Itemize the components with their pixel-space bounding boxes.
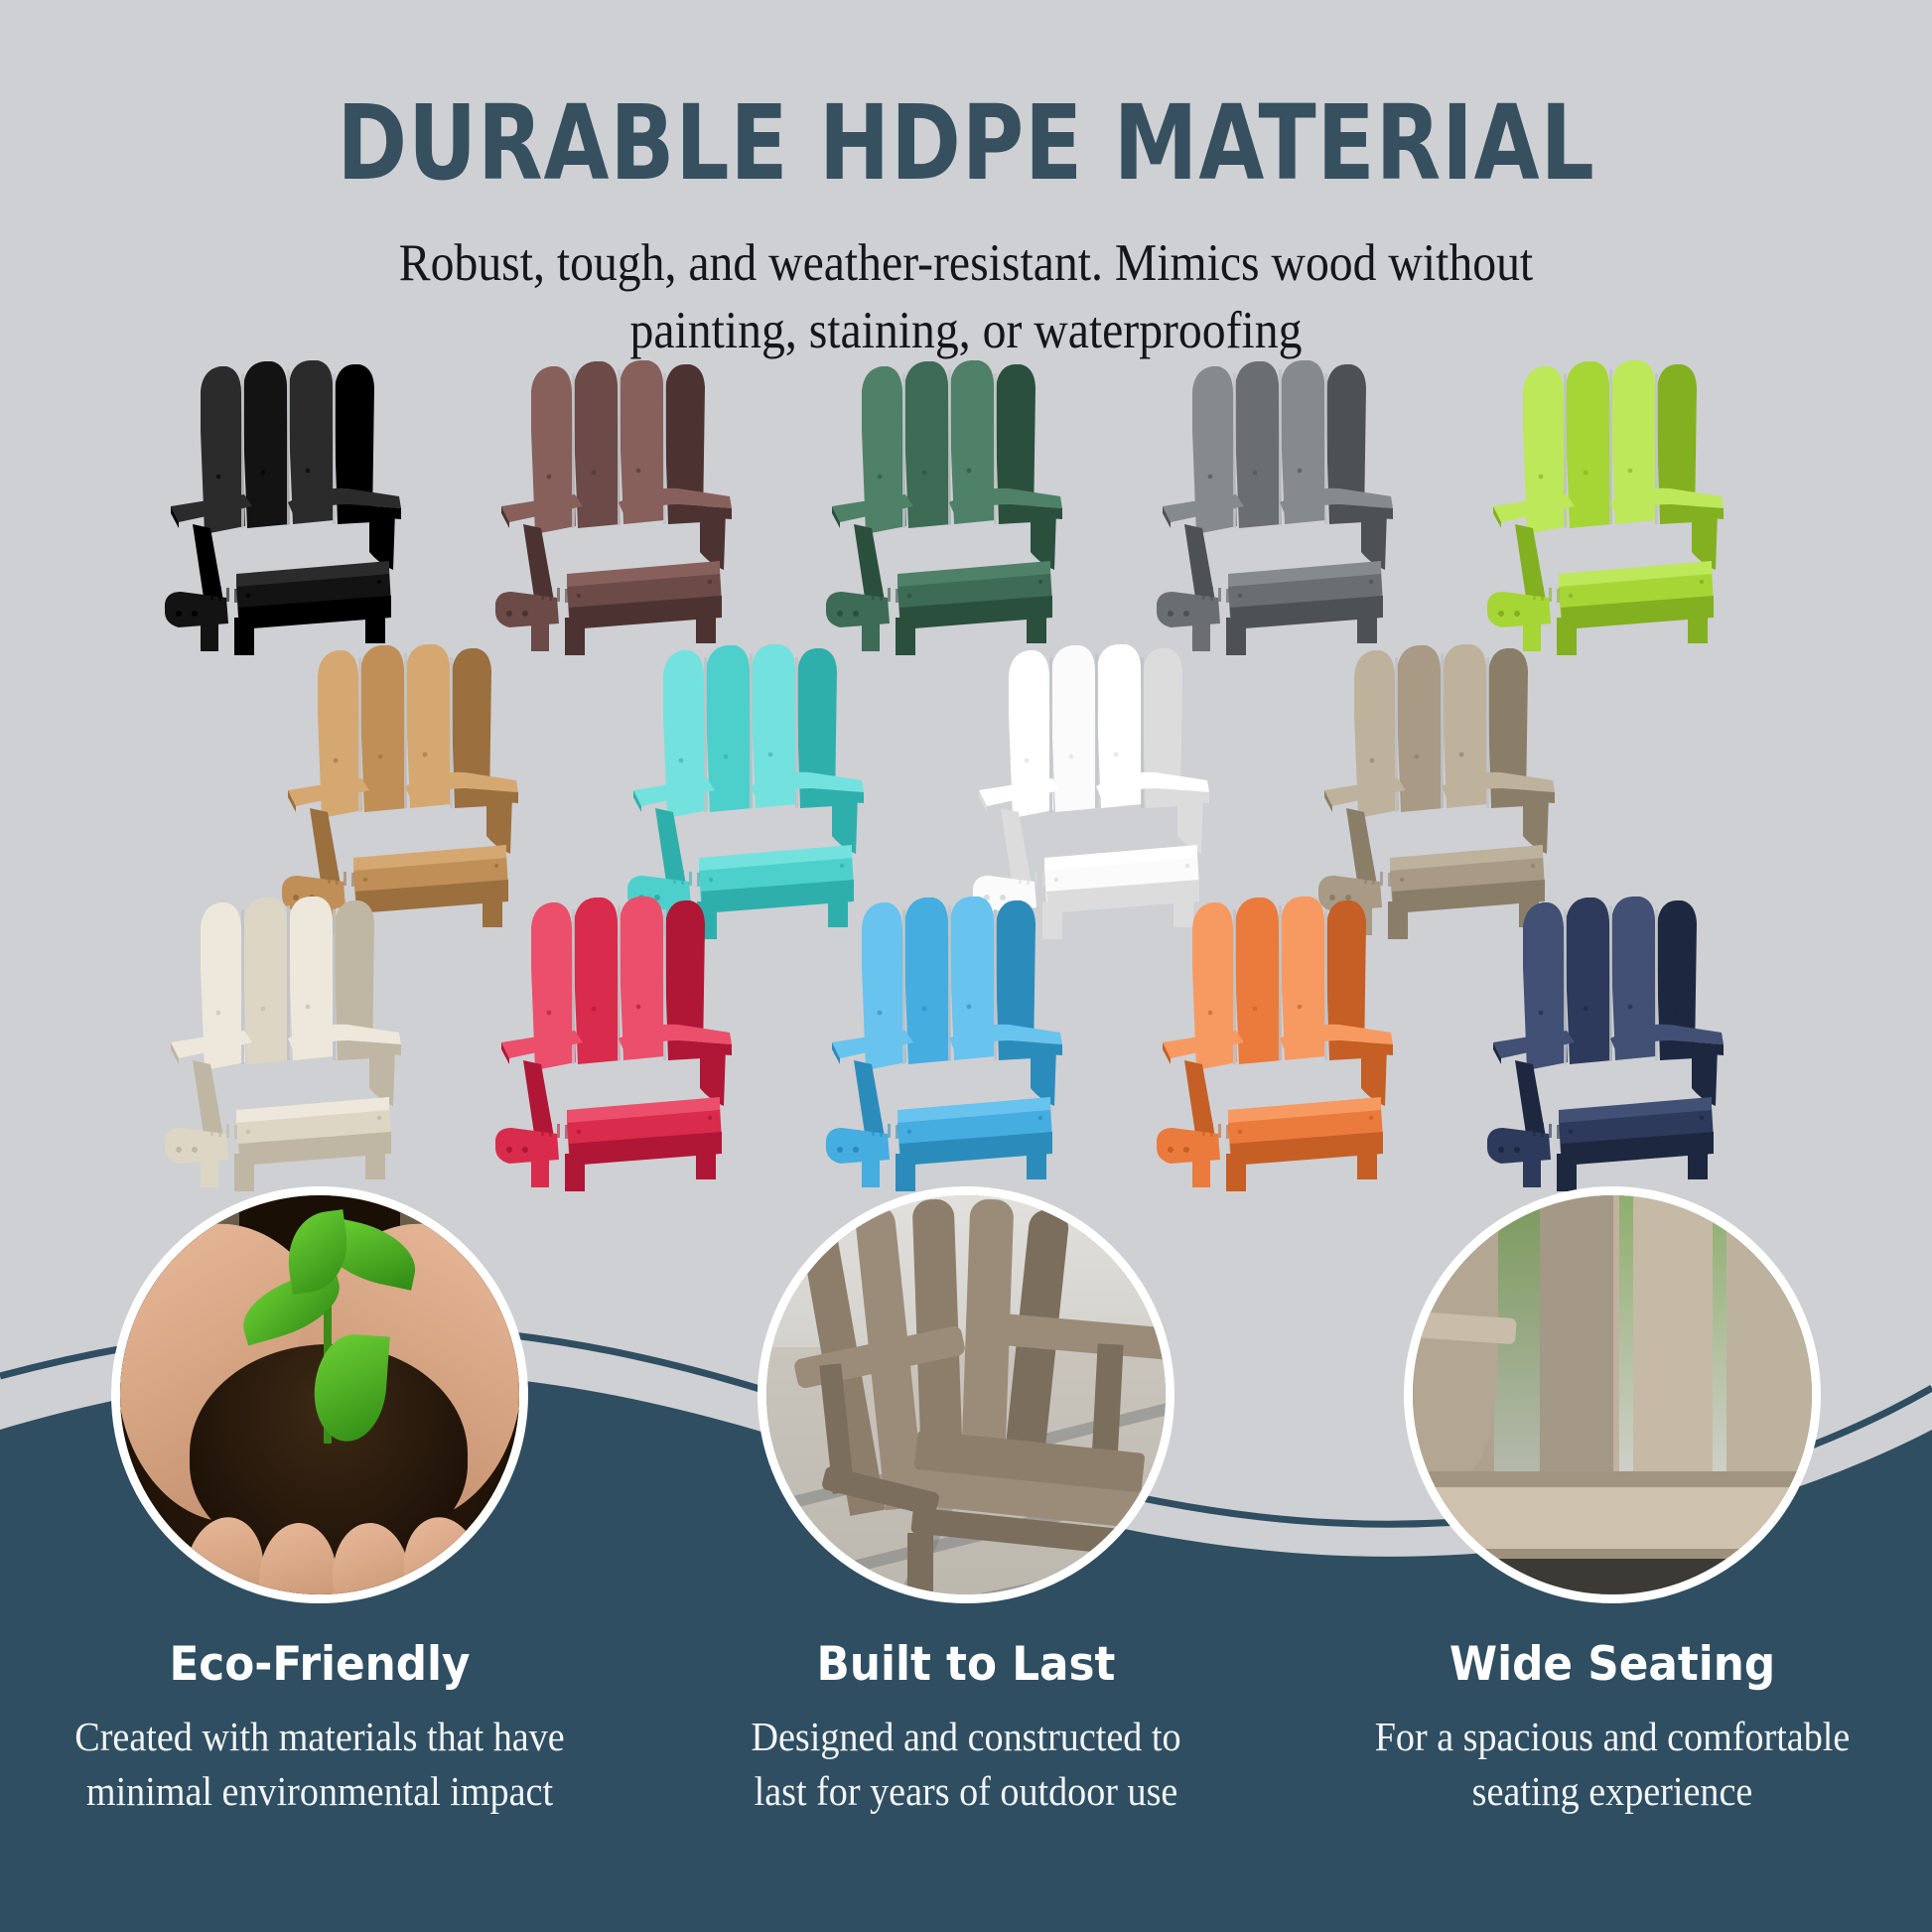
chair-right-arm-support	[1361, 506, 1387, 570]
adirondack-chair-gray[interactable]	[1141, 357, 1409, 655]
chair-right-arm-support	[700, 1042, 726, 1106]
chair-swatch-dark-green[interactable]	[810, 357, 1078, 655]
chair-swatch-orange[interactable]	[1141, 894, 1409, 1191]
chair-swatch-brown[interactable]	[480, 357, 748, 655]
wide-seat-closeup-photo	[1413, 1195, 1812, 1594]
chair-rear-leg	[531, 1154, 549, 1187]
adirondack-chair-ivory[interactable]	[149, 894, 417, 1191]
chair-rear-leg	[201, 1154, 218, 1187]
chair-front-leg-right	[1027, 608, 1046, 643]
chair-right-arm-support	[832, 790, 858, 854]
chair-on-patio-photo	[766, 1195, 1166, 1594]
chair-right-arm-support	[1523, 790, 1549, 854]
feature-description: Created with materials that have minimal…	[62, 1710, 579, 1820]
page-title: DURABLE HDPE MATERIAL	[174, 91, 1758, 195]
chair-swatch-red[interactable]	[480, 894, 748, 1191]
feature-built-to-last: Built to Last Designed and constructed t…	[688, 1186, 1244, 1820]
adirondack-chair-red[interactable]	[480, 894, 748, 1191]
adirondack-chair-brown[interactable]	[480, 357, 748, 655]
adirondack-chair-black[interactable]	[149, 357, 417, 655]
chair-right-arm-support	[1031, 1042, 1056, 1106]
feature-photo-eco-friendly	[111, 1186, 528, 1603]
adirondack-chair-dark-green[interactable]	[810, 357, 1078, 655]
chair-color-grid	[0, 357, 1932, 1231]
chair-front-leg-right	[365, 1144, 385, 1179]
feature-title: Eco-Friendly	[62, 1637, 579, 1692]
chair-row-3	[0, 894, 1932, 1191]
chair-front-leg-right	[1688, 608, 1708, 643]
feature-title: Wide Seating	[1354, 1637, 1871, 1692]
subtitle-line-1: Robust, tough, and weather-resistant. Mi…	[96, 230, 1835, 298]
header: DURABLE HDPE MATERIAL Robust, tough, and…	[0, 0, 1932, 365]
chair-rear-leg	[862, 1154, 880, 1187]
chair-right-arm-support	[1361, 1042, 1387, 1106]
feature-description: Designed and constructed to last for yea…	[708, 1710, 1225, 1820]
chair-rear-leg	[1523, 1154, 1541, 1187]
chair-front-leg-right	[1357, 608, 1377, 643]
adirondack-chair-orange[interactable]	[1141, 894, 1409, 1191]
chair-right-arm-support	[369, 506, 395, 570]
chair-right-arm-support	[1692, 506, 1718, 570]
feature-description: For a spacious and comfortable seating e…	[1354, 1710, 1871, 1820]
chair-swatch-sky-blue[interactable]	[810, 894, 1078, 1191]
hands-sprout-photo	[120, 1195, 519, 1594]
chair-front-leg-right	[696, 1144, 716, 1179]
chair-swatch-navy-blue[interactable]	[1471, 894, 1739, 1191]
chair-row-1	[0, 357, 1932, 655]
chair-right-arm-support	[1692, 1042, 1718, 1106]
adirondack-chair-sky-blue[interactable]	[810, 894, 1078, 1191]
feature-title: Built to Last	[708, 1637, 1225, 1692]
adirondack-chair-lime-green[interactable]	[1471, 357, 1739, 655]
chair-swatch-gray[interactable]	[1141, 357, 1409, 655]
chair-swatch-black[interactable]	[149, 357, 417, 655]
chair-right-arm-support	[700, 506, 726, 570]
feature-eco-friendly: Eco-Friendly Created with materials that…	[42, 1186, 598, 1820]
chair-rear-leg	[1192, 1154, 1210, 1187]
page-subtitle: Robust, tough, and weather-resistant. Mi…	[96, 230, 1835, 365]
chair-swatch-ivory[interactable]	[149, 894, 417, 1191]
chair-swatch-lime-green[interactable]	[1471, 357, 1739, 655]
chair-front-leg-right	[365, 608, 385, 643]
chair-right-arm-support	[486, 790, 512, 854]
chair-front-leg-right	[696, 608, 716, 643]
adirondack-chair-navy-blue[interactable]	[1471, 894, 1739, 1191]
feature-photo-built-to-last	[758, 1186, 1174, 1603]
features-section: Eco-Friendly Created with materials that…	[0, 1186, 1932, 1932]
chair-front-leg-right	[1027, 1144, 1046, 1179]
chair-right-arm-support	[1177, 790, 1203, 854]
feature-photo-wide-seating	[1404, 1186, 1821, 1603]
feature-wide-seating: Wide Seating For a spacious and comforta…	[1334, 1186, 1890, 1820]
chair-right-arm-support	[369, 1042, 395, 1106]
subtitle-line-2: painting, staining, or waterproofing	[96, 298, 1835, 365]
chair-front-leg-right	[1357, 1144, 1377, 1179]
chair-front-leg-right	[1688, 1144, 1708, 1179]
chair-right-arm-support	[1031, 506, 1056, 570]
